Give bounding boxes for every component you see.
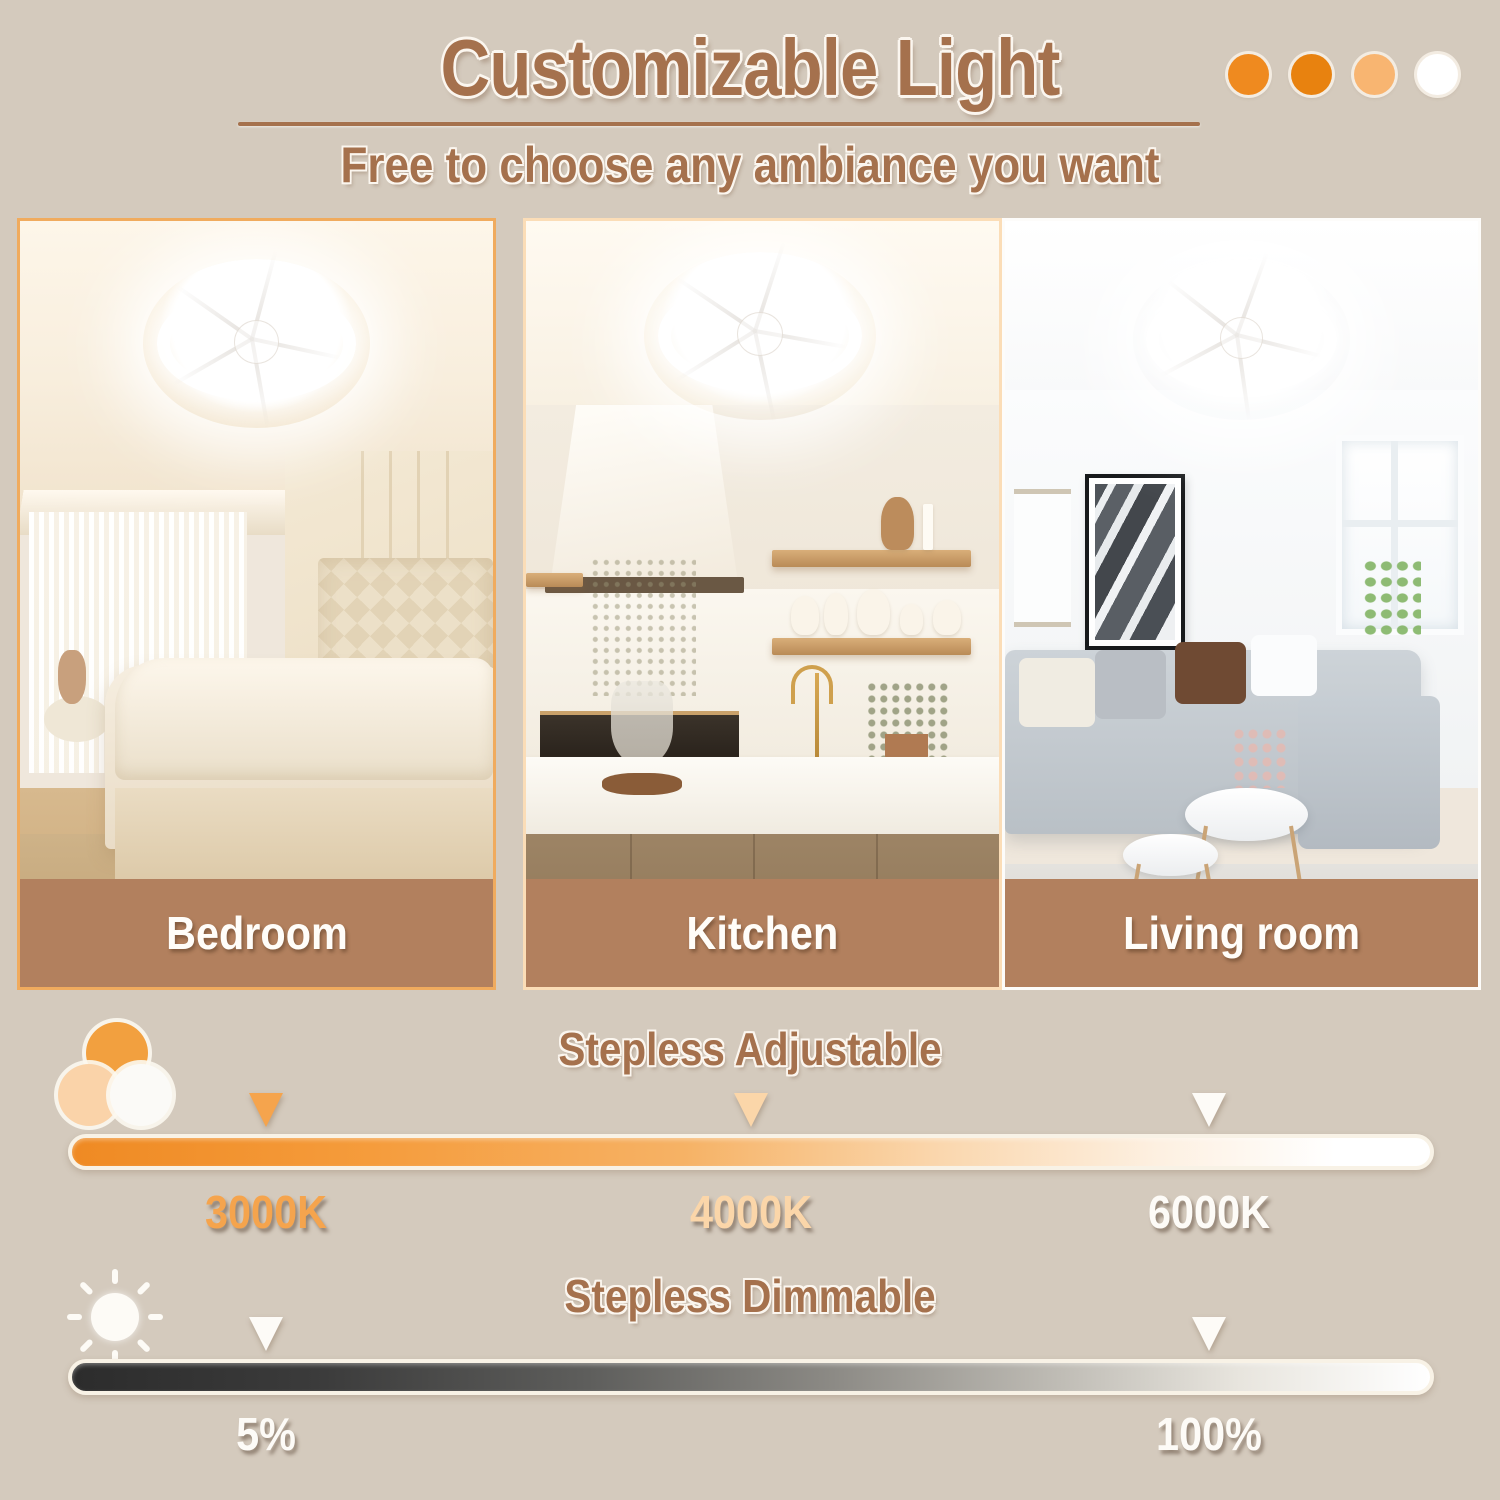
bedroom-scene <box>20 221 493 987</box>
room-panel-bedroom[interactable]: Bedroom <box>17 218 496 990</box>
slider-marker[interactable] <box>1192 1317 1226 1351</box>
room-gallery: Bedroom <box>0 218 1500 990</box>
dimming-section: Stepless Dimmable 5%100% <box>0 1255 1500 1500</box>
dot-white[interactable] <box>1417 54 1458 95</box>
ceiling-fan-light-living-room <box>1133 259 1351 420</box>
slider-marker[interactable] <box>249 1317 283 1351</box>
living-room-scene <box>1005 221 1478 987</box>
room-caption-bedroom: Bedroom <box>20 879 493 987</box>
slider-tick-label: 5% <box>176 1407 356 1461</box>
dot-amber[interactable] <box>1228 54 1269 95</box>
room-label: Kitchen <box>687 906 839 960</box>
brightness-slider[interactable] <box>68 1359 1434 1395</box>
room-label: Bedroom <box>166 906 348 960</box>
sun-ray <box>136 1338 151 1353</box>
slider-tick-label: 3000K <box>176 1185 356 1239</box>
color-temperature-slider[interactable] <box>68 1134 1434 1170</box>
room-panel-kitchen[interactable]: Kitchen <box>523 218 1002 990</box>
ceiling-fan-light-bedroom <box>143 259 370 428</box>
page-title: Customizable Light <box>105 22 1395 114</box>
title-divider <box>238 122 1200 126</box>
dot-peach[interactable] <box>1354 54 1395 95</box>
cct-heading: Stepless Adjustable <box>90 1022 1410 1076</box>
dim-heading: Stepless Dimmable <box>90 1269 1410 1323</box>
ceiling-fan-light-kitchen <box>644 252 876 421</box>
page-subtitle: Free to choose any ambiance you want <box>90 136 1410 194</box>
room-label: Living room <box>1123 906 1360 960</box>
room-panel-living-room[interactable]: Living room <box>1002 218 1481 990</box>
dot-orange[interactable] <box>1291 54 1332 95</box>
slider-marker[interactable] <box>249 1093 283 1127</box>
room-caption-living-room: Living room <box>1005 879 1478 987</box>
sun-ray <box>67 1314 82 1320</box>
slider-marker[interactable] <box>1192 1093 1226 1127</box>
header-banner: Customizable Light Free to choose any am… <box>0 0 1500 205</box>
slider-tick-label: 6000K <box>1119 1185 1299 1239</box>
color-temperature-section: Stepless Adjustable 3000K4000K6000K <box>0 1000 1500 1265</box>
slider-tick-label: 100% <box>1119 1407 1299 1461</box>
sun-ray <box>79 1338 94 1353</box>
slider-tick-label: 4000K <box>661 1185 841 1239</box>
kitchen-scene <box>526 221 999 987</box>
room-caption-kitchen: Kitchen <box>526 879 999 987</box>
color-swatch-group <box>1228 54 1458 95</box>
slider-marker[interactable] <box>734 1093 768 1127</box>
